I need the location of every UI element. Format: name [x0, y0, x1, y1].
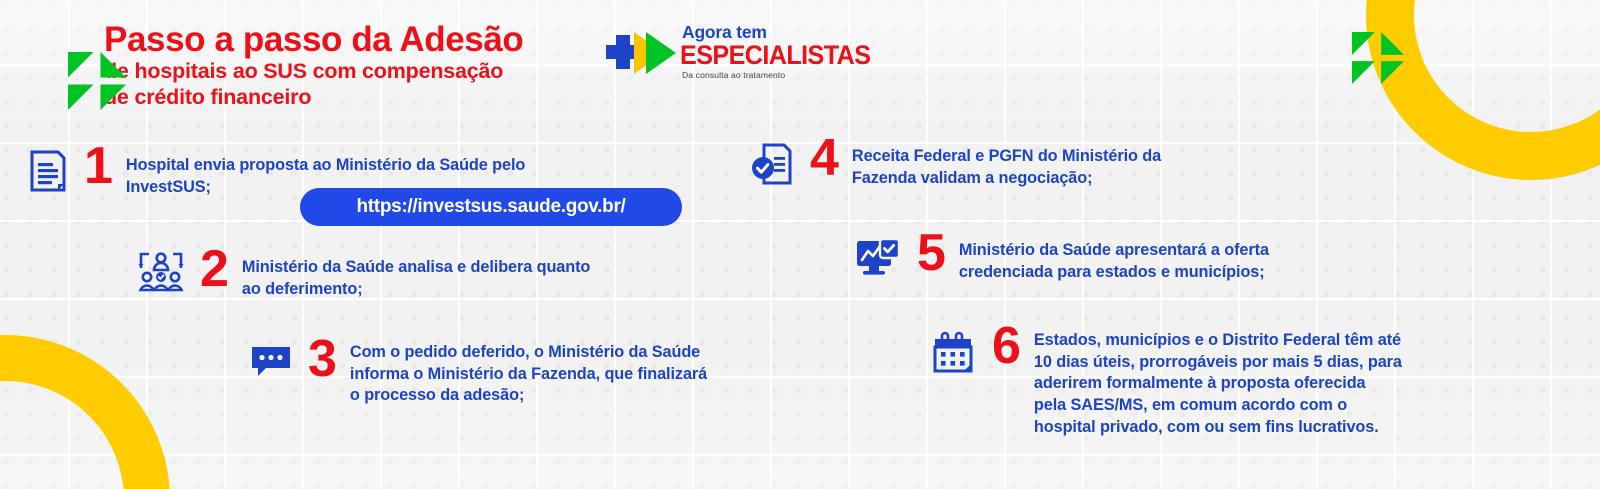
step-text-line: Ministério da Saúde analisa e delibera q…: [242, 257, 702, 279]
step-text-line: ao deferimento;: [242, 279, 702, 301]
step-text-line: Receita Federal e PGFN do Ministério da: [852, 146, 1315, 168]
page-subtitle-line1: de hospitais ao SUS com compensação: [104, 59, 523, 85]
step-text-line: Hospital envia proposta ao Ministério da…: [126, 156, 488, 174]
calendar-icon: [930, 331, 976, 379]
step-text-5: Ministério da Saúde apresentará a oferta…: [959, 240, 1422, 283]
step-text-3: Com o pedido deferido, o Ministério da S…: [350, 342, 816, 407]
step-text-line: credenciada para estados e municípios;: [959, 262, 1422, 284]
step-number-5: 5: [917, 231, 944, 276]
pinwheel-logo-icon: [68, 52, 126, 110]
step-text-2: Ministério da Saúde analisa e delibera q…: [242, 257, 702, 300]
monitor-chart-check-icon: [855, 238, 901, 280]
step-text-line: hospital privado, com ou sem fins lucrat…: [1034, 417, 1494, 439]
step-text-line: Estados, municípios e o Distrito Federal…: [1034, 330, 1494, 352]
title-block: Passo a passo da Adesão de hospitais ao …: [104, 22, 523, 111]
page-title: Passo a passo da Adesão: [104, 22, 523, 58]
brand-text-block: Agora tem ESPECIALISTAS Da consulta ao t…: [680, 24, 885, 79]
page-subtitle-line2: de crédito financeiro: [104, 85, 523, 111]
step-text-line: 10 dias úteis, prorrogáveis por mais 5 d…: [1034, 352, 1494, 374]
step-item-5: 5 Ministério da Saúde apresentará a ofer…: [855, 234, 1422, 283]
step-text-line: pela SAES/MS, em comum acordo com o: [1034, 395, 1494, 417]
step-text-4: Receita Federal e PGFN do Ministério da …: [852, 146, 1315, 189]
investsus-url-button[interactable]: https://investsus.saude.gov.br/: [300, 188, 682, 226]
header: Passo a passo da Adesão de hospitais ao …: [34, 24, 523, 111]
brand-logo: Agora tem ESPECIALISTAS Da consulta ao t…: [594, 26, 885, 79]
step-text-line: Com o pedido deferido, o Ministério da S…: [350, 342, 816, 364]
document-check-icon: [750, 142, 794, 186]
step-number-1: 1: [84, 144, 111, 189]
chat-bubble-icon: [250, 345, 292, 379]
step-text-6: Estados, municípios e o Distrito Federal…: [1034, 330, 1494, 438]
step-item-2: 2 Ministério da Saúde analisa e delibera…: [138, 247, 702, 300]
step-text-line: aderirem formalmente à proposta oferecid…: [1034, 373, 1494, 395]
step-text-line: o processo da adesão;: [350, 385, 816, 407]
step-text-line: informa o Ministério da Fazenda, que fin…: [350, 364, 816, 386]
step-item-3: 3 Com o pedido deferido, o Ministério da…: [250, 333, 816, 407]
step-number-4: 4: [810, 136, 837, 181]
brand-line-especialistas: ESPECIALISTAS: [680, 43, 870, 68]
step-item-4: 4 Receita Federal e PGFN do Ministério d…: [750, 139, 1315, 189]
step-text-line: Ministério da Saúde apresentará a oferta: [959, 240, 1422, 262]
people-group-check-icon: [138, 251, 184, 293]
step-text-line: Fazenda validam a negociação;: [852, 168, 1315, 190]
cross-arrow-logo-icon: [594, 27, 676, 79]
step-number-3: 3: [308, 337, 335, 382]
step-number-6: 6: [992, 324, 1019, 369]
step-item-6: 6 Estados, municípios e o Distrito Feder…: [930, 326, 1494, 438]
brand-tagline: Da consulta ao tratamento: [682, 71, 885, 80]
document-icon: [28, 149, 68, 193]
step-number-2: 2: [200, 247, 227, 292]
